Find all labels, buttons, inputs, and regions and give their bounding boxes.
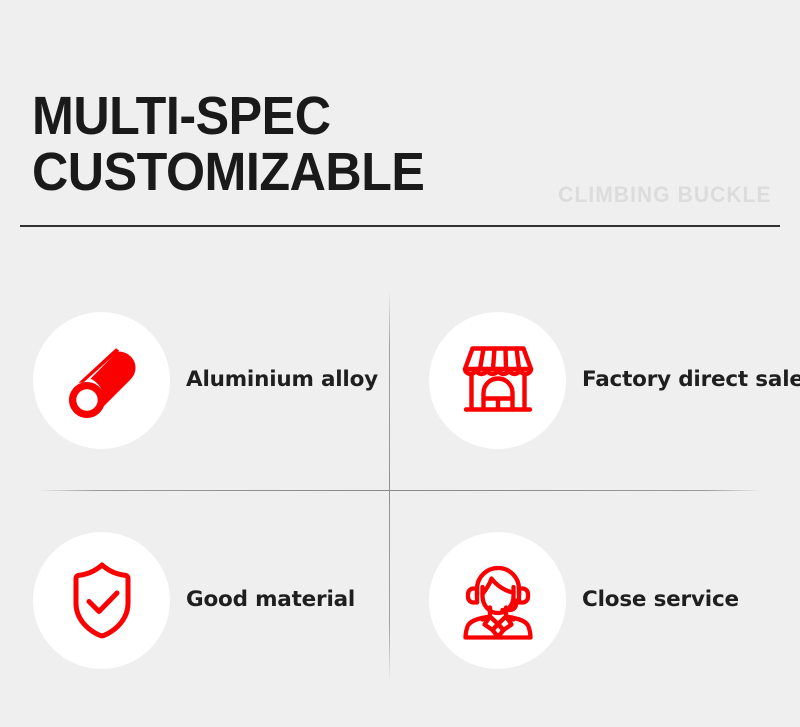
subtitle: CLIMBING BUCKLE <box>559 182 772 208</box>
title-line-1: MULTI-SPEC <box>32 88 516 144</box>
icon-badge <box>429 312 566 449</box>
title-line-2: CUSTOMIZABLE <box>32 144 516 200</box>
feature-label: Close service <box>582 587 739 613</box>
page-title: MULTI-SPEC CUSTOMIZABLE <box>32 88 552 200</box>
aluminium-tube-icon <box>56 334 148 426</box>
feature-item-aluminium-alloy: Aluminium alloy <box>33 290 378 470</box>
header-divider <box>20 225 780 227</box>
feature-item-good-material: Good material <box>33 510 355 690</box>
icon-badge <box>33 312 170 449</box>
promo-banner: MULTI-SPEC CUSTOMIZABLE CLIMBING BUCKLE <box>0 0 800 727</box>
icon-badge <box>429 532 566 669</box>
icon-badge <box>33 532 170 669</box>
feature-item-factory-direct-sale: Factory direct sale <box>429 290 800 470</box>
storefront-icon <box>452 334 544 426</box>
feature-label: Aluminium alloy <box>186 367 378 393</box>
grid-divider-horizontal <box>38 490 762 491</box>
feature-label: Good material <box>186 587 355 613</box>
feature-item-close-service: Close service <box>429 510 739 690</box>
feature-label: Factory direct sale <box>582 367 800 393</box>
grid-divider-vertical <box>389 290 390 682</box>
feature-grid: Aluminium alloy <box>0 250 800 710</box>
header: MULTI-SPEC CUSTOMIZABLE CLIMBING BUCKLE <box>0 0 800 240</box>
headset-agent-icon <box>452 554 544 646</box>
shield-check-icon <box>56 554 148 646</box>
